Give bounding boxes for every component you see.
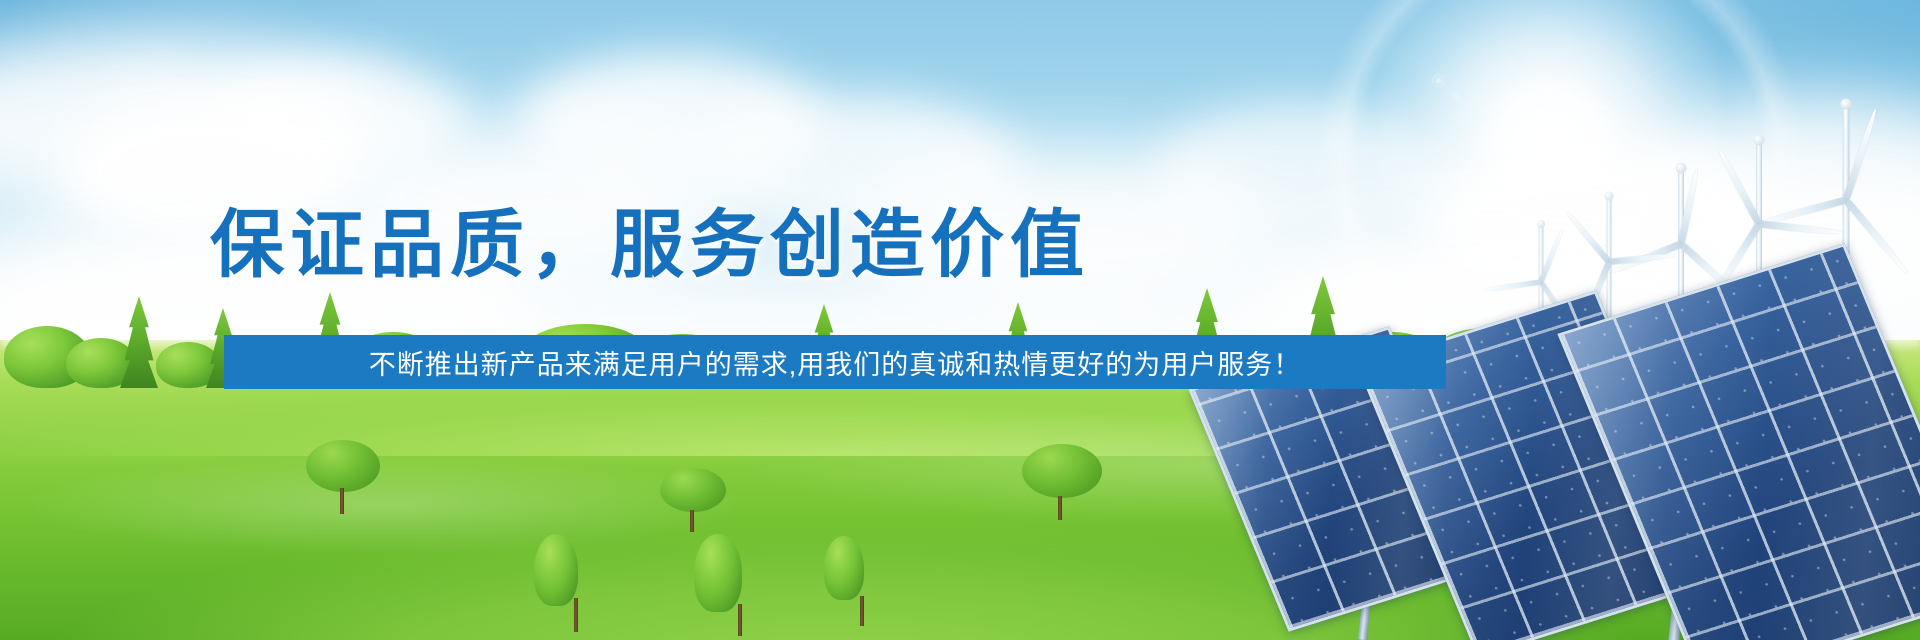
- turbine-hub: [1605, 192, 1614, 201]
- sapling-trunk: [574, 598, 578, 632]
- sapling: [824, 536, 864, 600]
- tree-trunk: [1058, 496, 1062, 520]
- sapling-trunk: [860, 596, 864, 626]
- turbine-hub: [1537, 220, 1545, 228]
- tree-trunk: [690, 510, 694, 532]
- shrub: [1022, 444, 1102, 498]
- sapling: [694, 534, 742, 612]
- banner-subtitle-bar: 不断推出新产品来满足用户的需求,用我们的真诚和热情更好的为用户服务！: [224, 335, 1446, 389]
- sapling-trunk: [738, 604, 742, 636]
- shrub: [306, 440, 380, 492]
- turbine-hub: [1841, 99, 1852, 110]
- tree-trunk: [340, 488, 344, 514]
- conifer-tree: [120, 296, 158, 388]
- solar-panel-array: [1200, 230, 1920, 640]
- turbine-hub: [1754, 135, 1765, 146]
- shrub: [660, 468, 726, 512]
- turbine-hub: [1676, 163, 1687, 174]
- banner-headline: 保证品质，服务创造价值: [0, 185, 1300, 292]
- sapling: [534, 534, 578, 606]
- promo-banner: 保证品质，服务创造价值 不断推出新产品来满足用户的需求,用我们的真诚和热情更好的…: [0, 0, 1920, 640]
- banner-subtitle-text: 不断推出新产品来满足用户的需求,用我们的真诚和热情更好的为用户服务！: [369, 343, 1302, 382]
